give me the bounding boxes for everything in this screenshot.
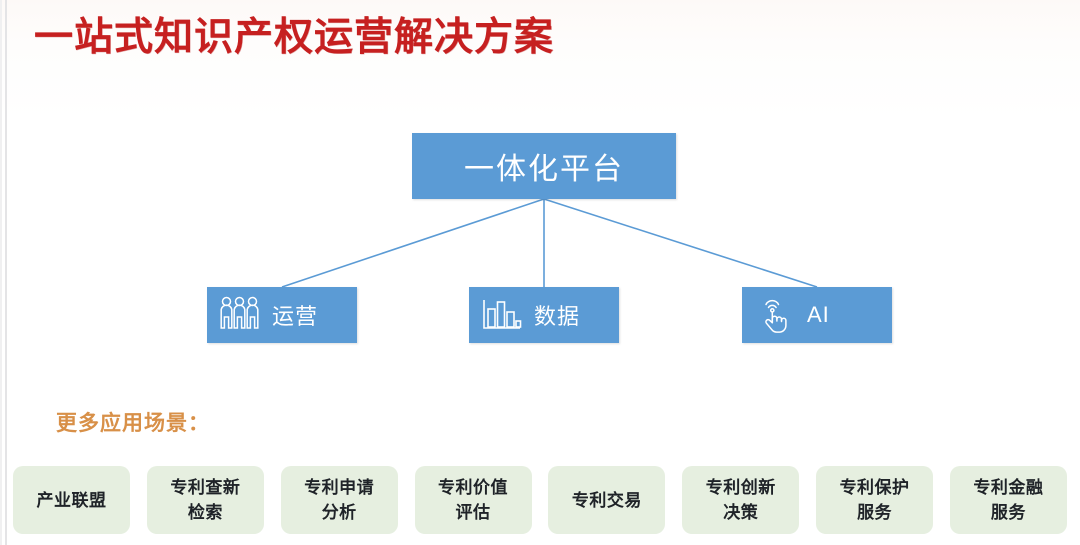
bar-chart-icon [478, 293, 526, 337]
node-ai[interactable]: AI [742, 287, 892, 343]
node-operations-label: 运营 [272, 299, 318, 331]
scenario-tag[interactable]: 专利查新 检索 [147, 466, 264, 534]
people-group-icon [216, 293, 264, 337]
scenario-tag-label: 专利金融 服务 [973, 475, 1043, 525]
scenario-tag[interactable]: 专利创新 决策 [682, 466, 799, 534]
scenario-tag[interactable]: 专利交易 [548, 466, 665, 534]
scenario-tag-list: 产业联盟 专利查新 检索 专利申请 分析 专利价值 评估 专利交易 专利创新 决… [13, 466, 1067, 534]
scenario-tag[interactable]: 专利金融 服务 [950, 466, 1067, 534]
scenario-tag-label: 专利价值 评估 [438, 475, 508, 525]
node-root[interactable]: 一体化平台 [412, 133, 676, 199]
scenario-tag-label: 专利查新 检索 [170, 475, 240, 525]
node-data[interactable]: 数据 [469, 287, 619, 343]
node-operations[interactable]: 运营 [207, 287, 357, 343]
platform-diagram: 一体化平台 运营 [0, 0, 1080, 380]
scenario-tag[interactable]: 专利申请 分析 [281, 466, 398, 534]
node-ai-label: AI [807, 302, 830, 328]
scenario-tag[interactable]: 产业联盟 [13, 466, 130, 534]
more-scenarios-label: 更多应用场景： [56, 407, 210, 437]
touch-hand-icon [751, 293, 799, 337]
node-root-label: 一体化平台 [464, 144, 624, 188]
slide-canvas: 一站式知识产权运营解决方案 一体化平台 [0, 0, 1080, 545]
node-data-label: 数据 [534, 299, 580, 331]
scenario-tag-label: 专利保护 服务 [840, 475, 910, 525]
scenario-tag-label: 产业联盟 [37, 488, 107, 513]
scenario-tag-label: 专利交易 [572, 488, 642, 513]
scenario-tag[interactable]: 专利保护 服务 [816, 466, 933, 534]
scenario-tag-label: 专利创新 决策 [706, 475, 776, 525]
scenario-tag[interactable]: 专利价值 评估 [415, 466, 532, 534]
scenario-tag-label: 专利申请 分析 [304, 475, 374, 525]
